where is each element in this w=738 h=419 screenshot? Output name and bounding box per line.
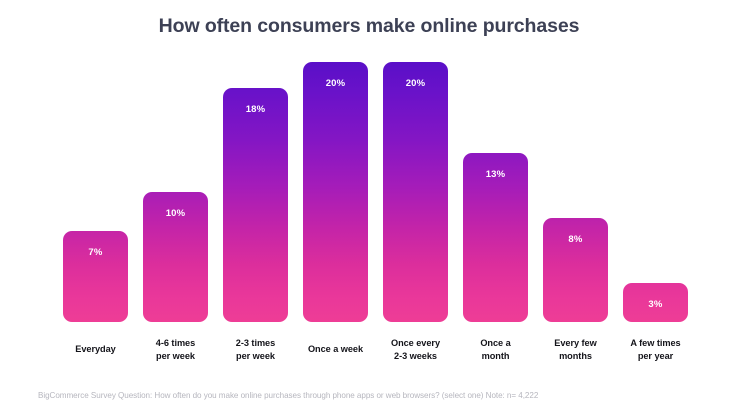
x-axis-label-line: 2-3 weeks [374, 350, 457, 363]
x-axis-label-line: 2-3 times [214, 337, 297, 350]
x-axis-label-line: per week [134, 350, 217, 363]
bar: 3% [623, 283, 688, 322]
bar-value-label: 8% [543, 234, 608, 245]
plot-area: 7%Everyday10%4-6 timesper week18%2-3 tim… [0, 0, 738, 419]
bar: 10% [143, 192, 208, 322]
bar-gradient-fill [63, 231, 128, 322]
x-axis-label-line: Everyday [54, 343, 137, 356]
bar: 8% [543, 218, 608, 322]
x-axis-label-line: A few times [614, 337, 697, 350]
x-axis-label: Everyday [54, 343, 137, 356]
bar-value-label: 7% [63, 247, 128, 258]
bar: 7% [63, 231, 128, 322]
chart-annotation: BigCommerce Survey Question: How often d… [38, 391, 718, 400]
x-axis-label-line: per week [214, 350, 297, 363]
bar: 13% [463, 153, 528, 322]
x-axis-label: Once amonth [454, 337, 537, 362]
bar: 20% [383, 62, 448, 322]
x-axis-label: Once every2-3 weeks [374, 337, 457, 362]
bar-gradient-fill [383, 62, 448, 322]
bar: 20% [303, 62, 368, 322]
bar-value-label: 13% [463, 169, 528, 180]
x-axis-label: 4-6 timesper week [134, 337, 217, 362]
x-axis-label-line: Once every [374, 337, 457, 350]
bar-value-label: 18% [223, 104, 288, 115]
bar-chart: How often consumers make online purchase… [0, 0, 738, 419]
x-axis-label-line: Once a [454, 337, 537, 350]
x-axis-label-line: per year [614, 350, 697, 363]
bar: 18% [223, 88, 288, 322]
bar-value-label: 20% [383, 78, 448, 89]
x-axis-label: A few timesper year [614, 337, 697, 362]
bar-gradient-fill [223, 88, 288, 322]
x-axis-label: 2-3 timesper week [214, 337, 297, 362]
bar-value-label: 3% [623, 299, 688, 310]
x-axis-label-line: Every few [534, 337, 617, 350]
bar-gradient-fill [303, 62, 368, 322]
x-axis-label-line: Once a week [294, 343, 377, 356]
x-axis-label: Once a week [294, 343, 377, 356]
bar-value-label: 10% [143, 208, 208, 219]
x-axis-label-line: 4-6 times [134, 337, 217, 350]
x-axis-label: Every fewmonths [534, 337, 617, 362]
bar-value-label: 20% [303, 78, 368, 89]
x-axis-label-line: months [534, 350, 617, 363]
x-axis-label-line: month [454, 350, 537, 363]
